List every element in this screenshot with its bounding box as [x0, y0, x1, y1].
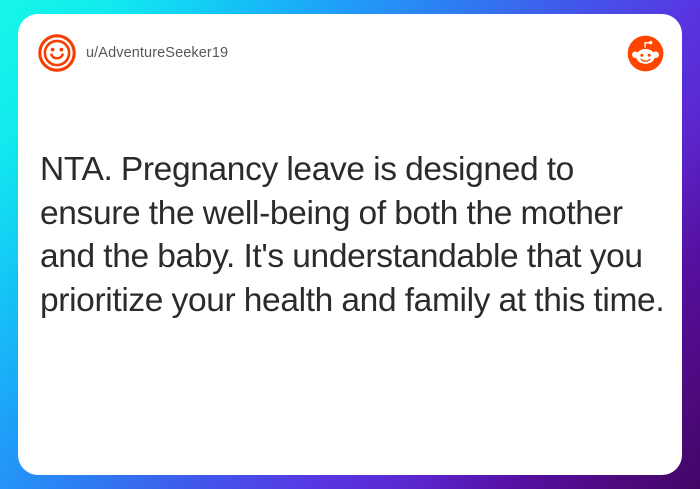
post-text: NTA. Pregnancy leave is designed to ensu…: [40, 148, 666, 322]
post-body: NTA. Pregnancy leave is designed to ensu…: [40, 148, 666, 322]
reddit-comment-card: u/AdventureSeeker19: [18, 14, 682, 475]
reddit-snoo-icon[interactable]: [627, 35, 664, 72]
username-label: u/AdventureSeeker19: [86, 43, 228, 63]
gradient-background: u/AdventureSeeker19: [0, 0, 700, 489]
smiley-face-icon[interactable]: [38, 34, 76, 72]
card-header: u/AdventureSeeker19: [18, 14, 682, 100]
